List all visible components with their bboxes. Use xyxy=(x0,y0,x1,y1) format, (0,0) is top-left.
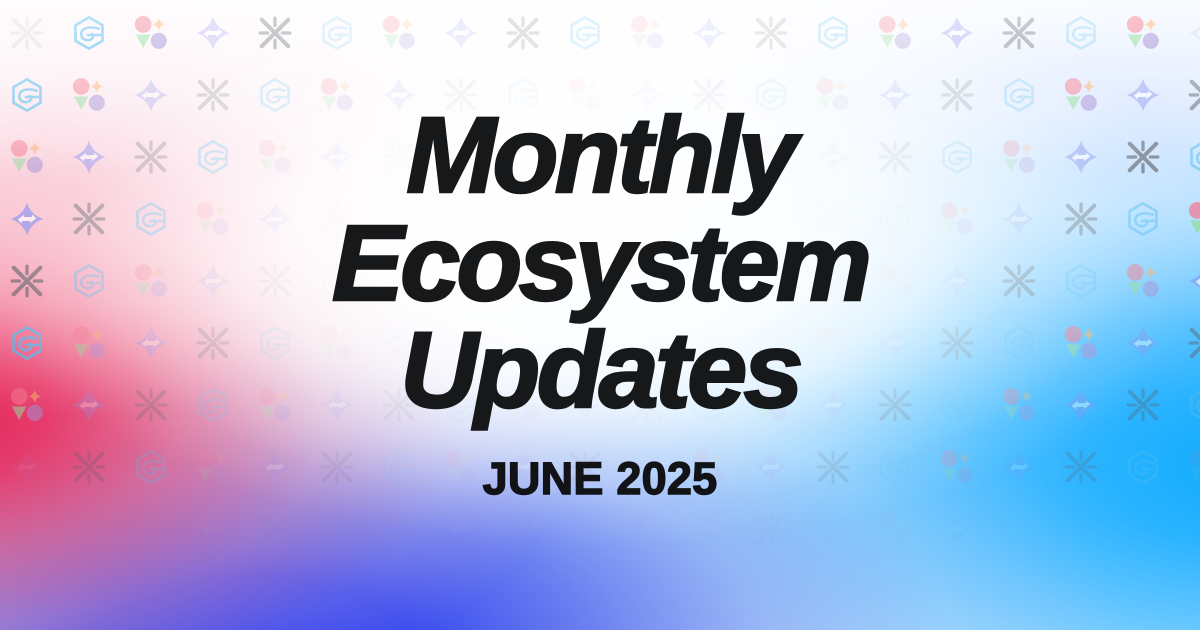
subtitle-date: JUNE 2025 xyxy=(483,453,718,505)
headline-block: Monthly Ecosystem Updates JUNE 2025 xyxy=(0,0,1200,630)
banner-canvas: Monthly Ecosystem Updates JUNE 2025 xyxy=(0,0,1200,630)
title-line-1: Monthly xyxy=(406,104,793,206)
title-line-3: Updates xyxy=(400,319,800,421)
title-line-2: Ecosystem xyxy=(332,212,868,314)
